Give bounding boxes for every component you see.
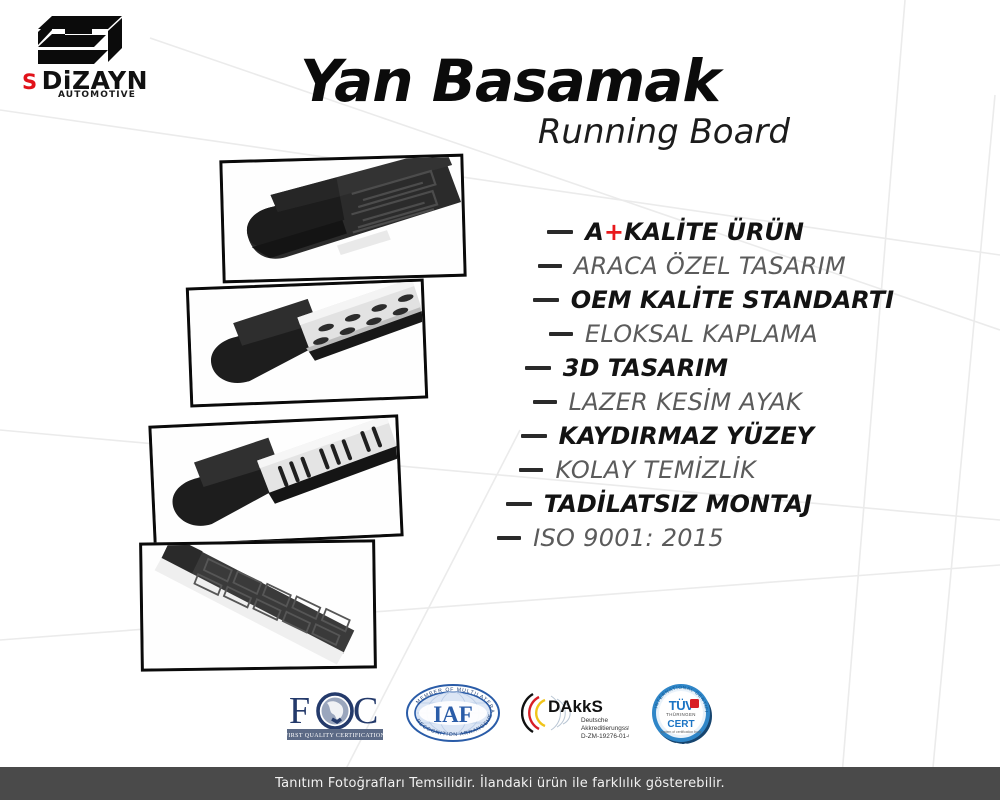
feature-item: ARACA ÖZEL TASARIM — [440, 252, 910, 280]
bullet-dash-icon — [549, 332, 573, 336]
feature-item: TADİLATSIZ MONTAJ — [440, 490, 910, 518]
feature-item: KOLAY TEMİZLİK — [440, 456, 910, 484]
brand-tagline: AUTOMOTIVE — [58, 90, 136, 100]
gallery-item-0[interactable] — [219, 154, 466, 284]
gallery-item-2[interactable] — [148, 414, 403, 547]
bullet-dash-icon — [538, 264, 562, 268]
bullet-dash-icon — [533, 400, 557, 404]
feature-list: A+KALİTE ÜRÜN ARACA ÖZEL TASARIM OEM KAL… — [440, 218, 910, 552]
bullet-dash-icon — [506, 502, 532, 506]
bullet-dash-icon — [547, 230, 573, 234]
tuv-cert-badge: INTERNATIONAL CERTIFICATION TÜV THÜRINGE… — [649, 680, 715, 751]
feature-label: LAZER KESİM AYAK — [569, 388, 802, 416]
bullet-dash-icon — [521, 434, 547, 438]
svg-text:D-ZM-19276-01-00: D-ZM-19276-01-00 — [581, 733, 629, 740]
bullet-dash-icon — [497, 536, 521, 540]
feature-label: ARACA ÖZEL TASARIM — [574, 252, 846, 280]
photo-rubber-tread-step — [142, 542, 374, 668]
certification-badges: F C FIRST QUALITY CERTIFICATION — [285, 680, 715, 750]
feature-label: ELOKSAL KAPLAMA — [585, 320, 818, 348]
svg-text:Akkreditierungsstelle: Akkreditierungsstelle — [581, 725, 629, 732]
photo-black-ribbed-step — [222, 157, 463, 281]
feature-label: ISO 9001: 2015 — [533, 524, 724, 552]
feature-item: ISO 9001: 2015 — [440, 524, 910, 552]
feature-item: ELOKSAL KAPLAMA — [440, 320, 910, 348]
feature-label: A+KALİTE ÜRÜN — [585, 218, 804, 246]
fqc-badge: F C FIRST QUALITY CERTIFICATION — [285, 685, 385, 746]
svg-text:F: F — [289, 690, 310, 732]
photo-slotted-alu-step — [151, 418, 400, 545]
s-monogram-icon — [34, 14, 126, 66]
plus-highlight: + — [604, 218, 624, 246]
brand-logo: S DiZAYN AUTOMOTIVE — [22, 14, 212, 98]
feature-item: 3D TASARIM — [440, 354, 910, 382]
feature-label: KOLAY TEMİZLİK — [555, 456, 756, 484]
page-subtitle: Running Board — [300, 115, 790, 149]
bullet-dash-icon — [519, 468, 543, 472]
svg-text:IAF: IAF — [433, 702, 473, 727]
feature-item: LAZER KESİM AYAK — [440, 388, 910, 416]
brand-name-prefix: S — [22, 70, 37, 94]
gallery-item-3[interactable] — [139, 539, 377, 671]
dakks-badge: DAkkS Deutsche Akkreditierungsstelle D-Z… — [521, 684, 629, 747]
feature-label: 3D TASARIM — [563, 354, 728, 382]
footer-bar: Tanıtım Fotoğrafları Temsilidir. İlandak… — [0, 767, 1000, 800]
bullet-dash-icon — [533, 298, 559, 302]
photo-perforated-alu-step — [189, 282, 425, 405]
feature-label: OEM KALİTE STANDARTI — [571, 286, 894, 314]
footer-disclaimer: Tanıtım Fotoğrafları Temsilidir. İlandak… — [275, 776, 725, 791]
product-poster: S DiZAYN AUTOMOTIVE Yan Basamak Running … — [0, 0, 1000, 800]
feature-item: KAYDIRMAZ YÜZEY — [440, 422, 910, 450]
feature-item: OEM KALİTE STANDARTI — [440, 286, 910, 314]
feature-label: KAYDIRMAZ YÜZEY — [559, 422, 814, 450]
gallery-item-1[interactable] — [186, 278, 428, 407]
svg-text:THÜRINGEN: THÜRINGEN — [666, 712, 696, 717]
feature-item: A+KALİTE ÜRÜN — [440, 218, 910, 246]
bullet-dash-icon — [525, 366, 551, 370]
feature-label: TADİLATSIZ MONTAJ — [544, 490, 812, 518]
svg-text:Deutsche: Deutsche — [581, 717, 608, 724]
dakks-label: DAkkS — [548, 697, 603, 716]
page-title: Yan Basamak — [300, 52, 720, 110]
svg-text:system of certification body: system of certification body — [661, 730, 702, 734]
iaf-badge: IAF MEMBER OF MULTILATERAL RECOGNITION A… — [405, 683, 501, 748]
svg-text:CERT: CERT — [667, 719, 694, 730]
fqc-sublabel: FIRST QUALITY CERTIFICATION — [285, 733, 385, 739]
svg-text:C: C — [353, 690, 378, 732]
